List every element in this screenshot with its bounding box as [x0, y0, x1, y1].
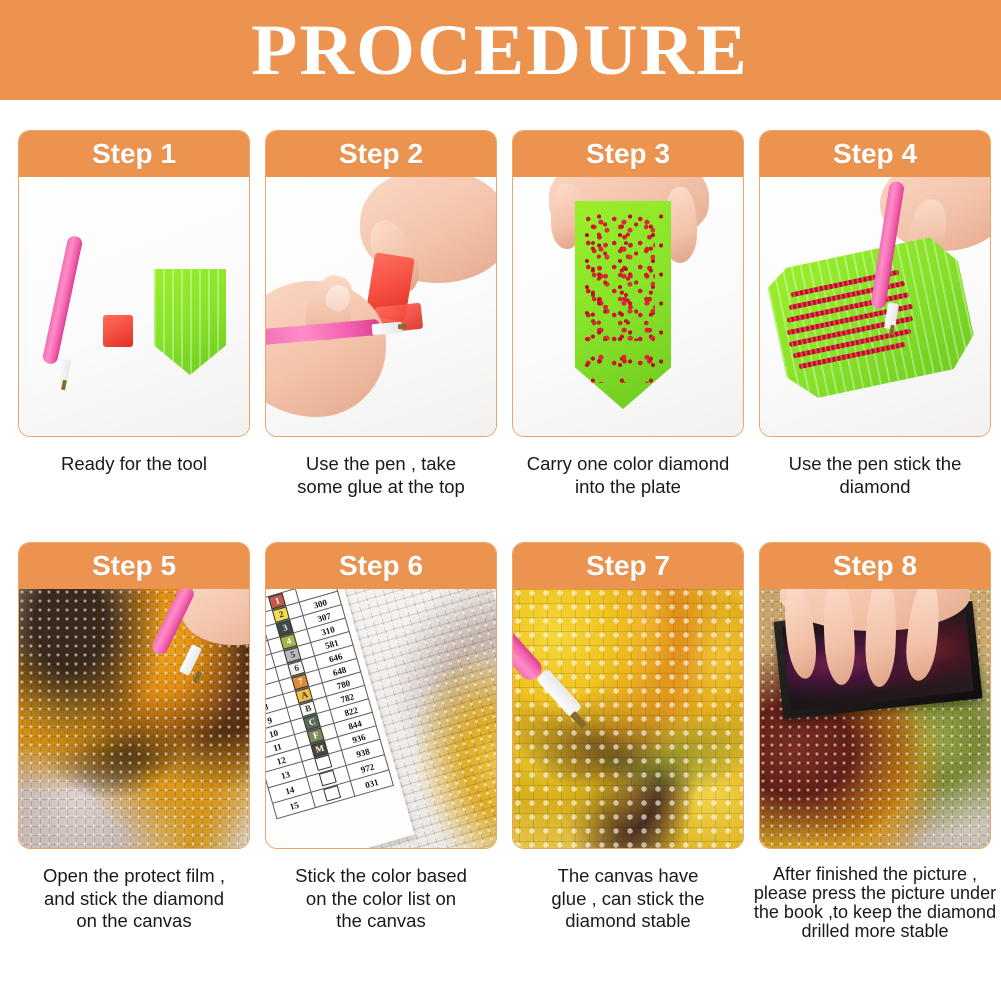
symbol-swatch — [319, 770, 337, 787]
step-label-5: Step 5 — [92, 552, 176, 580]
step-label-2: Step 2 — [339, 140, 423, 168]
step-card-8[interactable]: Step 8 — [759, 542, 991, 849]
step-cell-4: Step 4 — [759, 130, 991, 498]
step-caption-5: Open the protect film , and stick the di… — [9, 865, 259, 933]
step-label-7: Step 7 — [586, 552, 670, 580]
step-label-4: Step 4 — [833, 140, 917, 168]
steps-row-bottom: Step 5 Open the protect film , and stick… — [0, 542, 1001, 941]
red-diamonds-heap-dense — [589, 221, 655, 341]
step-card-1[interactable]: Step 1 — [18, 130, 250, 437]
closeup-diamonds-on-glue-canvas-image — [513, 589, 743, 848]
step-header-7: Step 7 — [513, 543, 743, 589]
step-photo-8 — [760, 589, 990, 848]
pink-pen-body — [42, 235, 84, 365]
step-label-6: Step 6 — [339, 552, 423, 580]
pen-dipping-into-glue-image — [266, 177, 496, 436]
step-photo-4 — [760, 177, 990, 436]
step-photo-3 — [513, 177, 743, 436]
step-card-5[interactable]: Step 5 — [18, 542, 250, 849]
step-header-6: Step 6 — [266, 543, 496, 589]
step-header-8: Step 8 — [760, 543, 990, 589]
step-header-4: Step 4 — [760, 131, 990, 177]
tool-kit-pen-wax-tray-image — [19, 177, 249, 436]
step-cell-3: Step 3 Carry one colo — [512, 130, 744, 498]
step-header-3: Step 3 — [513, 131, 743, 177]
step-card-7[interactable]: Step 7 — [512, 542, 744, 849]
step-caption-2: Use the pen , take some glue at the top — [256, 453, 506, 498]
step-card-2[interactable]: Step 2 — [265, 130, 497, 437]
pen-picking-diamond-from-tray-image — [760, 177, 990, 436]
step-label-3: Step 3 — [586, 140, 670, 168]
step-card-4[interactable]: Step 4 — [759, 130, 991, 437]
step-cell-6: Step 6 No. — [265, 542, 497, 941]
step-photo-7 — [513, 589, 743, 848]
step-photo-1 — [19, 177, 249, 436]
step-photo-2 — [266, 177, 496, 436]
step-header-2: Step 2 — [266, 131, 496, 177]
pink-pen-nib — [398, 324, 407, 330]
step-header-1: Step 1 — [19, 131, 249, 177]
step-caption-7: The canvas have glue , can stick the dia… — [503, 865, 753, 933]
diamond-bead-highlights — [513, 589, 743, 848]
step-cell-2: Step 2 — [265, 130, 497, 498]
steps-row-top: Step 1 — [0, 130, 1001, 498]
page-title: PROCEDURE — [252, 14, 750, 86]
step-caption-8: After finished the picture , please pres… — [747, 865, 1001, 941]
step-photo-5 — [19, 589, 249, 848]
step-caption-1: Ready for the tool — [9, 453, 259, 476]
step-label-1: Step 1 — [92, 140, 176, 168]
step-cell-5: Step 5 Open the protect film , and stick… — [18, 542, 250, 941]
step-card-6[interactable]: Step 6 No. — [265, 542, 497, 849]
step-card-3[interactable]: Step 3 — [512, 130, 744, 437]
step-caption-4: Use the pen stick the diamond — [750, 453, 1000, 498]
page-banner: PROCEDURE — [0, 0, 1001, 100]
green-diamond-tray — [154, 269, 226, 375]
step-caption-6: Stick the color based on the color list … — [256, 865, 506, 933]
steps-grid: Step 1 — [0, 100, 1001, 941]
symbol-swatch — [324, 785, 342, 802]
step-cell-1: Step 1 — [18, 130, 250, 498]
step-cell-8: Step 8 — [759, 542, 991, 941]
pink-pen-nib — [61, 380, 67, 391]
step-header-5: Step 5 — [19, 543, 249, 589]
step-photo-6: No. Symbol DMC 1 1 2 2 — [266, 589, 496, 848]
step-label-8: Step 8 — [833, 552, 917, 580]
pouring-diamonds-into-tray-image — [513, 177, 743, 436]
tray-grooves — [154, 269, 226, 375]
step-caption-3: Carry one color diamond into the plate — [503, 453, 753, 498]
symbol-swatch — [315, 754, 333, 771]
step-cell-7: Step 7 The canvas have glue , can stick … — [512, 542, 744, 941]
red-glue-wax — [103, 315, 133, 347]
